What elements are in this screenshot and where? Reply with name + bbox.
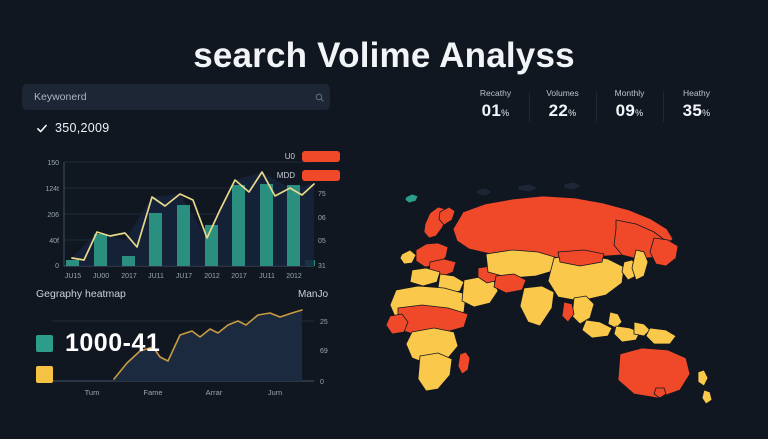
stat-value: 35%	[663, 101, 730, 121]
stat-unit: %	[568, 108, 576, 118]
svg-text:JU17: JU17	[176, 273, 192, 280]
left-panel: Keywonerd 350,2009	[22, 84, 342, 406]
stat-number: 22	[549, 101, 569, 120]
legend-label: U0	[285, 152, 295, 161]
stat-label: Recathy	[462, 88, 529, 98]
search-input-value[interactable]: Keywonerd	[22, 91, 308, 103]
dashboard-page: search Volime Analyss Keywonerd 350,2009	[0, 0, 768, 439]
stat-card-monthly[interactable]: Monthly 09%	[596, 88, 663, 121]
stat-value: 09%	[596, 101, 663, 121]
geography-heatmap-right-label: ManJo	[298, 289, 328, 300]
overlay-primary-row: 1000-41	[36, 329, 160, 358]
svg-text:75: 75	[318, 191, 326, 198]
legend-item[interactable]: MDD	[277, 170, 340, 181]
search-input[interactable]: Keywonerd	[22, 84, 330, 110]
search-result-count: 350,2009	[55, 121, 110, 135]
stat-label: Heathy	[663, 88, 730, 98]
svg-text:40f: 40f	[49, 238, 59, 245]
stat-label: Monthly	[596, 88, 663, 98]
svg-text:2012: 2012	[204, 273, 220, 280]
bar-chart-legend: U0 MDD	[277, 151, 340, 189]
stat-card-volumes[interactable]: Volumes 22%	[529, 88, 596, 121]
svg-text:JU15: JU15	[65, 273, 81, 280]
geography-heatmap-card: Gegraphy heatmap ManJo 25 69 0 Tum	[22, 288, 342, 406]
svg-text:25: 25	[320, 319, 328, 326]
svg-text:2012: 2012	[286, 273, 302, 280]
svg-text:0: 0	[55, 263, 59, 270]
overlay-secondary-row	[36, 366, 160, 383]
legend-swatch	[302, 151, 340, 162]
map-region	[386, 182, 712, 404]
svg-text:69: 69	[320, 348, 328, 355]
svg-text:206: 206	[47, 212, 59, 219]
world-map-svg[interactable]	[368, 150, 760, 430]
legend-swatch-primary	[36, 335, 53, 352]
stat-value: 22%	[529, 101, 596, 121]
check-icon	[36, 123, 48, 134]
stat-card-recathy[interactable]: Recathy 01%	[462, 88, 529, 121]
stat-number: 09	[616, 101, 636, 120]
stat-unit: %	[501, 108, 509, 118]
stat-number: 01	[482, 101, 502, 120]
stat-card-heathy[interactable]: Heathy 35%	[663, 88, 730, 121]
legend-item[interactable]: U0	[277, 151, 340, 162]
svg-text:06: 06	[318, 215, 326, 222]
stat-value: 01%	[462, 101, 529, 121]
search-volume-chart-card: 150 124t 206 40f 0 75 06 05 31	[22, 148, 342, 288]
legend-swatch-secondary	[36, 366, 53, 383]
svg-text:2017: 2017	[231, 273, 247, 280]
stat-number: 35	[683, 101, 703, 120]
stats-row: Recathy 01% Volumes 22% Monthly 09% Heat…	[462, 88, 730, 121]
svg-text:150: 150	[47, 160, 59, 167]
svg-text:124t: 124t	[45, 186, 59, 193]
svg-text:05: 05	[318, 238, 326, 245]
legend-swatch	[302, 170, 340, 181]
stat-unit: %	[635, 108, 643, 118]
svg-text:JU11: JU11	[259, 273, 275, 280]
world-choropleth-map[interactable]	[368, 150, 760, 430]
svg-text:Jum: Jum	[268, 388, 282, 397]
geography-heatmap-header: Gegraphy heatmap ManJo	[22, 288, 342, 300]
stat-label: Volumes	[529, 88, 596, 98]
search-result-row: 350,2009	[22, 121, 342, 135]
svg-text:2017: 2017	[121, 273, 137, 280]
svg-text:Arrar: Arrar	[206, 388, 223, 397]
geography-heatmap-title: Gegraphy heatmap	[36, 288, 126, 300]
legend-label: MDD	[277, 171, 295, 180]
svg-text:JU00: JU00	[93, 273, 109, 280]
svg-text:0: 0	[320, 379, 324, 386]
stat-unit: %	[702, 108, 710, 118]
overlay-value: 1000-41	[65, 329, 160, 358]
svg-text:JU11: JU11	[148, 273, 164, 280]
search-icon[interactable]	[308, 93, 330, 102]
geography-heatmap-body: 25 69 0 Tum Fame Arrar Jum 1000-41	[22, 307, 342, 404]
page-title: search Volime Analyss	[0, 36, 768, 76]
geography-heatmap-overlay: 1000-41	[36, 329, 160, 391]
svg-text:31: 31	[318, 263, 326, 270]
